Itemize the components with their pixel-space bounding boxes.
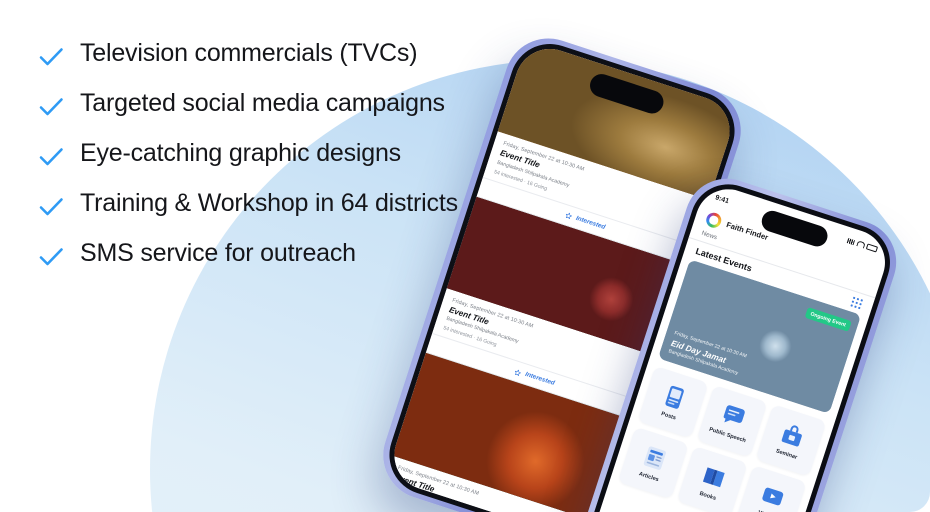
check-icon (36, 92, 66, 122)
faith-finder-logo-icon (704, 211, 723, 230)
tile-articles[interactable]: Articles (618, 427, 689, 499)
list-item: Targeted social media campaigns (36, 88, 466, 122)
tile-label: Seminar (775, 449, 798, 462)
check-icon (36, 142, 66, 172)
promo-card: Television commercials (TVCs) Targeted s… (0, 0, 930, 512)
tile-seminar[interactable]: Seminar (755, 404, 826, 476)
list-item: Television commercials (TVCs) (36, 38, 466, 72)
star-icon (563, 206, 575, 225)
tile-label: Books (698, 491, 716, 502)
books-icon (697, 461, 730, 494)
posts-icon (658, 381, 691, 414)
battery-icon (866, 243, 878, 253)
status-time: 9:41 (714, 194, 729, 205)
wifi-icon (856, 240, 865, 248)
star-icon (512, 362, 524, 381)
check-icon (36, 192, 66, 222)
articles-icon (638, 442, 671, 475)
list-item: SMS service for outreach (36, 238, 466, 272)
status-icons (847, 237, 879, 253)
seminar-icon (776, 420, 809, 453)
dot-grid-icon[interactable] (850, 297, 863, 310)
tile-posts[interactable]: Posts (637, 366, 708, 438)
tile-label: Articles (638, 472, 659, 484)
interested-button-label[interactable]: Interested (524, 371, 555, 387)
list-item-label: SMS service for outreach (80, 238, 356, 270)
tile-books[interactable]: Books (677, 446, 748, 512)
status-badge: Ongoing Event (805, 307, 852, 331)
list-item-label: Eye-catching graphic designs (80, 138, 401, 170)
videos-icon (756, 480, 789, 512)
signal-bars-icon (847, 238, 855, 245)
check-icon (36, 242, 66, 272)
tile-label: Posts (660, 411, 676, 421)
list-item-label: Targeted social media campaigns (80, 88, 445, 120)
list-item: Eye-catching graphic designs (36, 138, 466, 172)
list-item-label: Training & Workshop in 64 districts (80, 188, 458, 220)
interested-button-label[interactable]: Interested (575, 214, 606, 230)
list-item: Training & Workshop in 64 districts (36, 188, 466, 222)
public-speech-icon (717, 400, 750, 433)
check-icon (36, 42, 66, 72)
list-item-label: Television commercials (TVCs) (80, 38, 417, 70)
feature-checklist: Television commercials (TVCs) Targeted s… (36, 38, 466, 288)
tile-public-speech[interactable]: Public Speech (696, 385, 767, 457)
